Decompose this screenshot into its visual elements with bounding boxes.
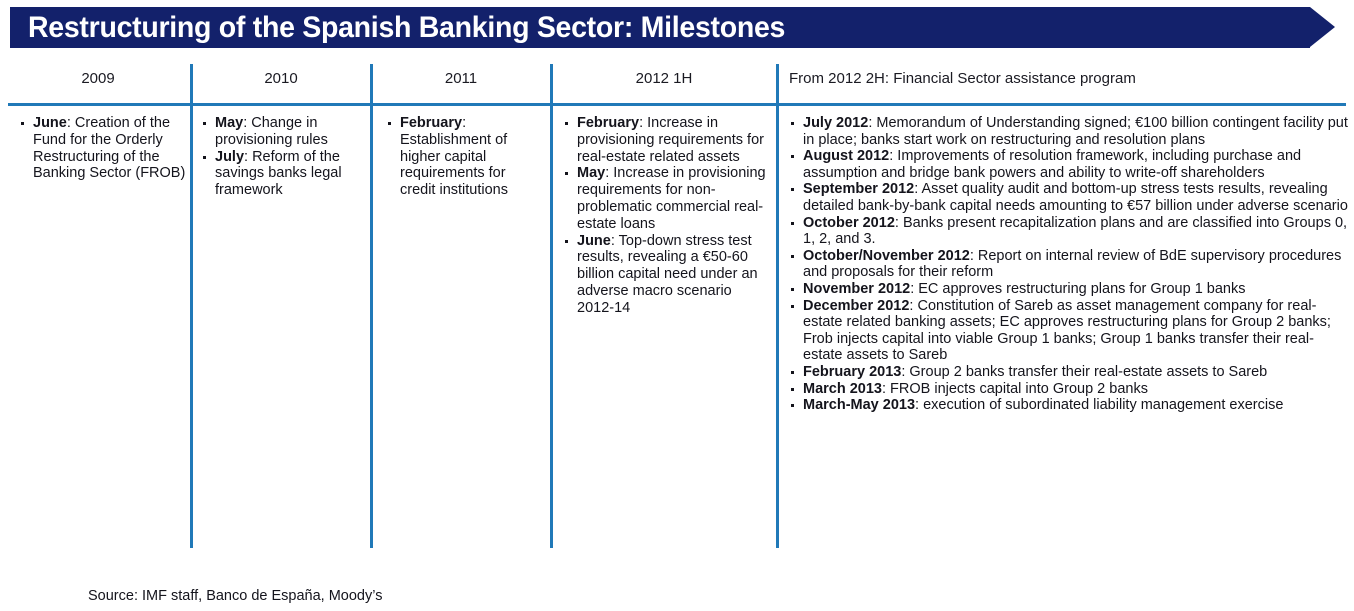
bullet-list-from-2012-2h: July 2012: Memorandum of Understanding s… (788, 115, 1348, 414)
list-item-label: May (577, 165, 605, 181)
list-item-label: October 2012 (803, 215, 895, 231)
bullet-list-2011: February: Establishment of higher capita… (385, 115, 545, 199)
list-item-label: September 2012 (803, 181, 914, 197)
list-item-text: : Memorandum of Understanding signed; €1… (803, 115, 1348, 148)
list-item-label: June (577, 233, 611, 249)
source-note: Source: IMF staff, Banco de España, Mood… (88, 588, 382, 604)
list-item: October 2012: Banks present recapitaliza… (788, 215, 1348, 248)
column-body-from-2012-2h: July 2012: Memorandum of Understanding s… (788, 115, 1348, 414)
list-item: August 2012: Improvements of resolution … (788, 148, 1348, 181)
column-divider-4 (776, 64, 779, 548)
list-item-label: February (400, 115, 462, 131)
title-banner: Restructuring of the Spanish Banking Sec… (10, 7, 1335, 48)
list-item-label: October/November 2012 (803, 248, 970, 264)
list-item-label: July (215, 149, 244, 165)
list-item-label: July 2012 (803, 115, 868, 131)
list-item-label: December 2012 (803, 298, 909, 314)
list-item: February: Establishment of higher capita… (385, 115, 545, 199)
column-header-from-2012-2h: From 2012 2H: Financial Sector assistanc… (789, 70, 1349, 87)
list-item: February: Increase in provisioning requi… (562, 115, 770, 165)
banner-arrow-shape (1310, 7, 1335, 47)
header-rule (8, 103, 1346, 106)
list-item: June: Top-down stress test results, reve… (562, 233, 770, 317)
bullet-list-2009: June: Creation of the Fund for the Order… (18, 115, 186, 182)
column-header-2009: 2009 (8, 70, 188, 87)
list-item-label: August 2012 (803, 148, 889, 164)
list-item: May: Change in provisioning rules (200, 115, 366, 149)
list-item-label: February 2013 (803, 364, 901, 380)
page-title: Restructuring of the Spanish Banking Sec… (28, 7, 785, 48)
bullet-list-2010: May: Change in provisioning rules July: … (200, 115, 366, 199)
milestones-table: 2009 June: Creation of the Fund for the … (0, 60, 1354, 555)
list-item: March 2013: FROB injects capital into Gr… (788, 381, 1348, 398)
list-item-text: : execution of subordinated liability ma… (915, 397, 1283, 413)
column-body-2009: June: Creation of the Fund for the Order… (18, 115, 186, 182)
list-item: December 2012: Constitution of Sareb as … (788, 298, 1348, 364)
list-item-label: March 2013 (803, 381, 882, 397)
list-item: February 2013: Group 2 banks transfer th… (788, 364, 1348, 381)
list-item-text: : Increase in provisioning requirements … (577, 165, 766, 231)
list-item: June: Creation of the Fund for the Order… (18, 115, 186, 182)
column-body-2012-1h: February: Increase in provisioning requi… (562, 115, 770, 317)
list-item: September 2012: Asset quality audit and … (788, 181, 1348, 214)
column-header-2012-1h: 2012 1H (556, 70, 772, 87)
list-item-label: March-May 2013 (803, 397, 915, 413)
list-item-text: : Group 2 banks transfer their real-esta… (901, 364, 1267, 380)
list-item-text: : EC approves restructuring plans for Gr… (910, 281, 1245, 297)
list-item: March-May 2013: execution of subordinate… (788, 397, 1348, 414)
list-item-label: February (577, 115, 639, 131)
list-item: May: Increase in provisioning requiremen… (562, 165, 770, 232)
list-item: October/November 2012: Report on interna… (788, 248, 1348, 281)
column-header-2010: 2010 (196, 70, 366, 87)
list-item-label: November 2012 (803, 281, 910, 297)
column-divider-2 (370, 64, 373, 548)
column-divider-3 (550, 64, 553, 548)
list-item-label: May (215, 115, 243, 131)
column-body-2010: May: Change in provisioning rules July: … (200, 115, 366, 199)
bullet-list-2012-1h: February: Increase in provisioning requi… (562, 115, 770, 317)
column-body-2011: February: Establishment of higher capita… (385, 115, 545, 199)
list-item: July 2012: Memorandum of Understanding s… (788, 115, 1348, 148)
list-item: November 2012: EC approves restructuring… (788, 281, 1348, 298)
list-item: July: Reform of the savings banks legal … (200, 149, 366, 199)
column-divider-1 (190, 64, 193, 548)
list-item-text: : FROB injects capital into Group 2 bank… (882, 381, 1148, 397)
list-item-label: June (33, 115, 67, 131)
column-header-2011: 2011 (376, 70, 546, 87)
